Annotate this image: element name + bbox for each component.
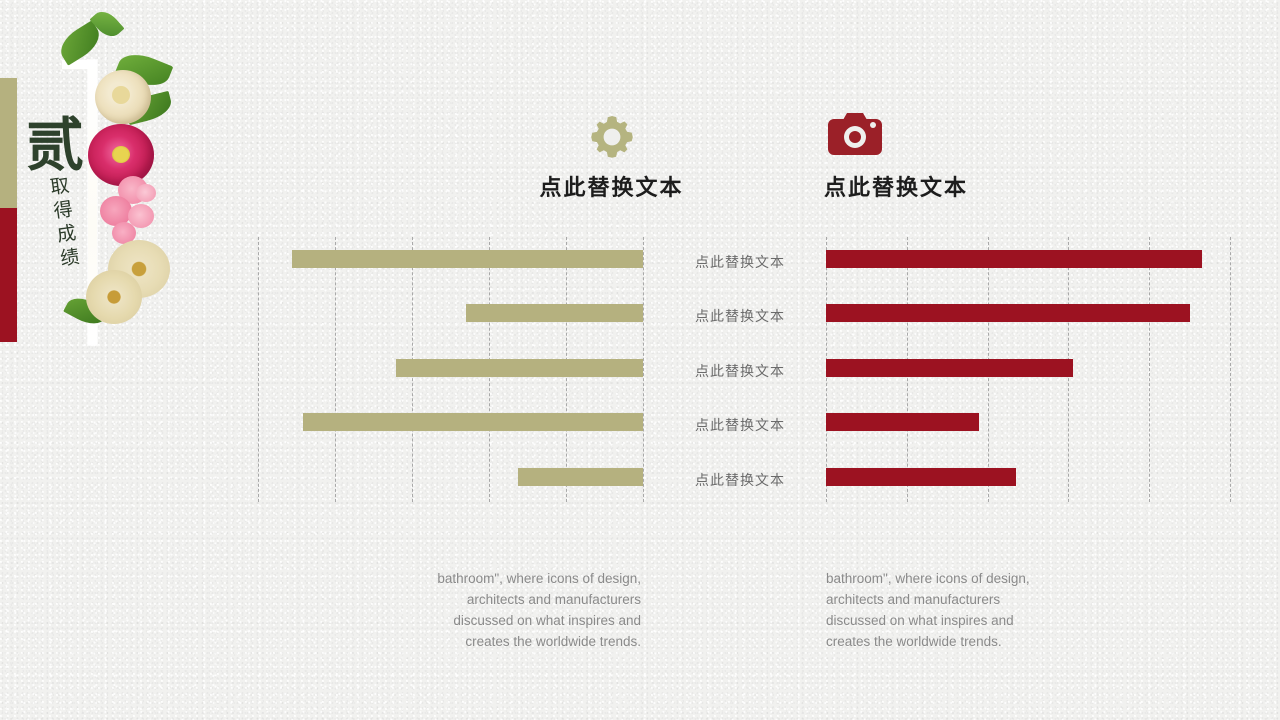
bar-left-2 bbox=[466, 304, 643, 322]
camera-icon[interactable] bbox=[828, 113, 882, 155]
section-decoration: 贰 取得成绩 bbox=[0, 0, 200, 370]
bar-right-2 bbox=[826, 304, 1190, 322]
left-column-title: 点此替换文本 bbox=[509, 170, 714, 202]
bar-left-3 bbox=[396, 359, 643, 377]
category-label: 点此替换文本 bbox=[660, 361, 820, 381]
section-title: 取得成绩 bbox=[44, 174, 84, 273]
category-label: 点此替换文本 bbox=[660, 306, 820, 326]
grid-line bbox=[643, 237, 644, 502]
bar-left-1 bbox=[292, 250, 643, 268]
left-bar-chart bbox=[258, 237, 643, 502]
grid-line bbox=[1230, 237, 1231, 502]
flower-daisy bbox=[86, 270, 142, 324]
flower-cream-center bbox=[112, 86, 130, 104]
flower-pink-cluster bbox=[136, 184, 156, 202]
category-label: 点此替换文本 bbox=[660, 252, 820, 272]
right-bar-chart bbox=[826, 237, 1230, 502]
category-label-list: 点此替换文本 点此替换文本 点此替换文本 点此替换文本 点此替换文本 bbox=[660, 237, 820, 502]
right-column-title: 点此替换文本 bbox=[824, 170, 970, 202]
grid-line bbox=[258, 237, 259, 502]
slide-canvas: 贰 取得成绩 点此替换文本 点此替换文本 点此替换文本 点此替换文本 点此替换文… bbox=[0, 0, 1280, 720]
bar-left-5 bbox=[518, 468, 643, 486]
grid-line bbox=[335, 237, 336, 502]
category-label: 点此替换文本 bbox=[660, 415, 820, 435]
left-column-paragraph: bathroom", where icons of design, archit… bbox=[411, 568, 641, 652]
bar-right-3 bbox=[826, 359, 1073, 377]
grid-line bbox=[1149, 237, 1150, 502]
category-label: 点此替换文本 bbox=[660, 470, 820, 490]
right-column-paragraph: bathroom", where icons of design, archit… bbox=[826, 568, 1056, 652]
flower-rose-center bbox=[112, 146, 130, 163]
gear-icon[interactable] bbox=[588, 113, 636, 161]
bar-right-4 bbox=[826, 413, 979, 431]
bar-left-4 bbox=[303, 413, 643, 431]
bar-right-1 bbox=[826, 250, 1202, 268]
section-number: 贰 bbox=[26, 116, 84, 174]
bar-right-5 bbox=[826, 468, 1016, 486]
